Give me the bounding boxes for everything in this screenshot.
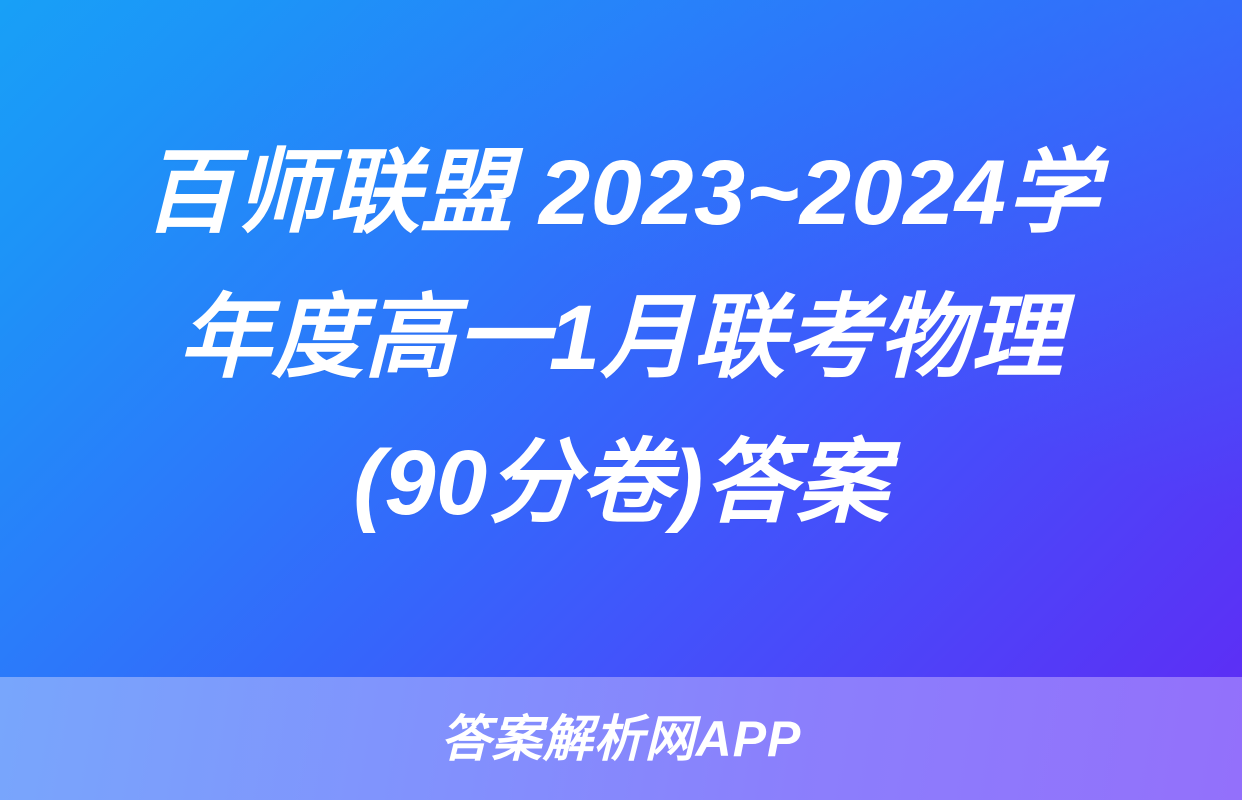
watermark-label: 答案解析网APP [441, 711, 802, 767]
hero-panel: 百师联盟 2023~2024学年度高一1月联考物理(90分卷)答案 [0, 0, 1242, 677]
page-title: 百师联盟 2023~2024学年度高一1月联考物理(90分卷)答案 [141, 121, 1101, 556]
watermark-band: 答案解析网APP [0, 677, 1242, 800]
poster-card: 百师联盟 2023~2024学年度高一1月联考物理(90分卷)答案 答案解析网A… [0, 0, 1242, 800]
hero-content: 百师联盟 2023~2024学年度高一1月联考物理(90分卷)答案 [71, 121, 1171, 556]
